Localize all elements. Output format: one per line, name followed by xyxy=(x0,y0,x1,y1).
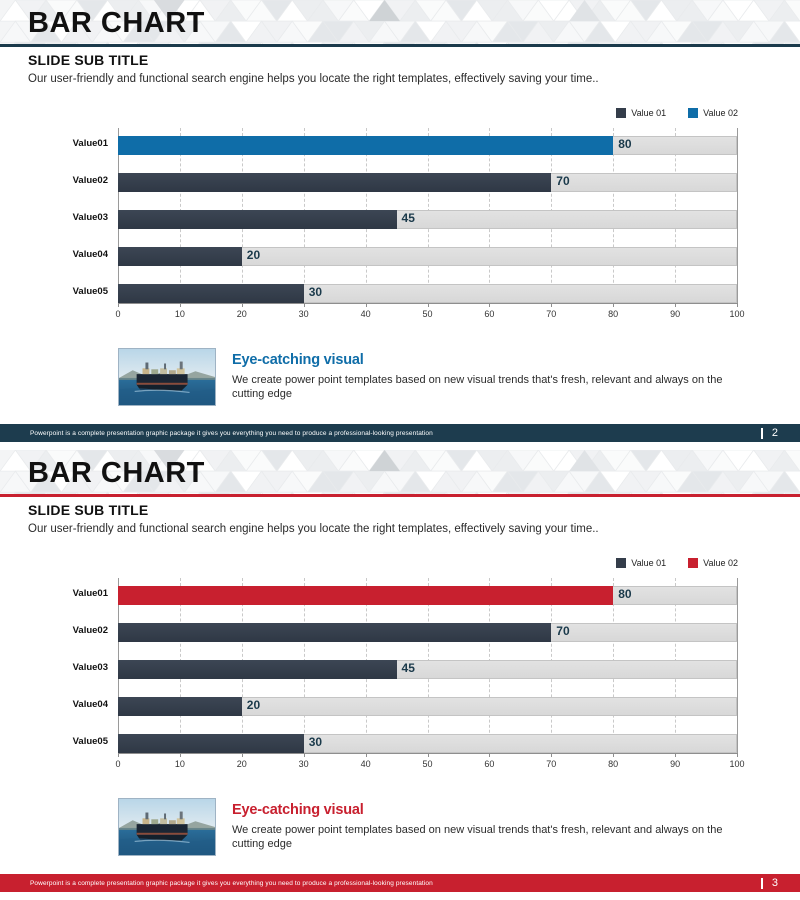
slide-2: BAR CHARTSLIDE SUB TITLEOur user-friendl… xyxy=(0,450,800,900)
legend-swatch-icon xyxy=(688,108,698,118)
axis-tick-label: 100 xyxy=(729,759,744,769)
gridline xyxy=(737,128,739,303)
slide-header: BAR CHART xyxy=(0,0,800,44)
axis-tick-label: 50 xyxy=(422,309,432,319)
bar-chart: 010203040506070809010080Value0170Value02… xyxy=(118,128,737,303)
axis-tick-label: 80 xyxy=(608,759,618,769)
bar-category-label: Value03 xyxy=(73,212,108,223)
bar-category-label: Value03 xyxy=(73,662,108,673)
chart-bar-row[interactable]: 45Value03 xyxy=(118,210,737,229)
bar-category-label: Value05 xyxy=(73,286,108,297)
bar-category-label: Value04 xyxy=(73,699,108,710)
chart-bar[interactable] xyxy=(118,697,242,716)
feature-block: Eye-catching visualWe create power point… xyxy=(118,798,738,860)
page-number: 3 xyxy=(772,877,778,889)
feature-description: We create power point templates based on… xyxy=(232,823,732,851)
slide-description: Our user-friendly and functional search … xyxy=(28,523,599,535)
slide-description: Our user-friendly and functional search … xyxy=(28,73,599,85)
chart-bar[interactable] xyxy=(118,247,242,266)
bar-value-label: 70 xyxy=(556,174,569,188)
chart-bar-row[interactable]: 80Value01 xyxy=(118,136,737,155)
feature-description: We create power point templates based on… xyxy=(232,373,732,401)
bar-value-label: 80 xyxy=(618,587,631,601)
chart-bar-row[interactable]: 80Value01 xyxy=(118,586,737,605)
axis-tick-label: 30 xyxy=(299,309,309,319)
chart-bar[interactable] xyxy=(118,586,613,605)
footer-page-number: 2 xyxy=(761,427,778,439)
legend-label: Value 02 xyxy=(703,108,738,118)
axis-tick-label: 50 xyxy=(422,759,432,769)
legend-swatch-icon xyxy=(688,558,698,568)
bar-category-label: Value01 xyxy=(73,588,108,599)
chart-bar-row[interactable]: 70Value02 xyxy=(118,173,737,192)
chart-bar-row[interactable]: 20Value04 xyxy=(118,247,737,266)
axis-tick-label: 20 xyxy=(237,309,247,319)
bar-value-label: 80 xyxy=(618,137,631,151)
x-axis-line xyxy=(118,303,737,304)
legend-item-2[interactable]: Value 02 xyxy=(688,558,738,568)
chart-bar-row[interactable]: 30Value05 xyxy=(118,734,737,753)
page-divider-icon xyxy=(761,428,763,439)
page-number: 2 xyxy=(772,427,778,439)
chart-bar[interactable] xyxy=(118,660,397,679)
chart-bar-row[interactable]: 45Value03 xyxy=(118,660,737,679)
bar-category-label: Value01 xyxy=(73,138,108,149)
slide-deck: BAR CHARTSLIDE SUB TITLEOur user-friendl… xyxy=(0,0,800,900)
axis-tick-label: 60 xyxy=(484,759,494,769)
bar-category-label: Value05 xyxy=(73,736,108,747)
bar-value-label: 20 xyxy=(247,698,260,712)
axis-tick-label: 30 xyxy=(299,759,309,769)
footer-text: Powerpoint is a complete presentation gr… xyxy=(30,430,433,437)
feature-title: Eye-catching visual xyxy=(232,802,364,818)
slide-subtitle: SLIDE SUB TITLE xyxy=(28,502,148,518)
chart-bar-row[interactable]: 70Value02 xyxy=(118,623,737,642)
header-accent-rule xyxy=(0,494,800,497)
chart-bar[interactable] xyxy=(118,173,551,192)
page-title: BAR CHART xyxy=(28,452,205,494)
axis-tick-label: 100 xyxy=(729,309,744,319)
footer-page-number: 3 xyxy=(761,877,778,889)
axis-tick-label: 10 xyxy=(175,309,185,319)
chart-bar-row[interactable]: 30Value05 xyxy=(118,284,737,303)
chart-bar[interactable] xyxy=(118,210,397,229)
axis-tick-label: 90 xyxy=(670,759,680,769)
axis-tick-label: 80 xyxy=(608,309,618,319)
axis-tick-label: 0 xyxy=(115,759,120,769)
bar-category-label: Value02 xyxy=(73,175,108,186)
gridline xyxy=(737,578,739,753)
bar-chart: 010203040506070809010080Value0170Value02… xyxy=(118,578,737,753)
slide-1: BAR CHARTSLIDE SUB TITLEOur user-friendl… xyxy=(0,0,800,450)
header-accent-rule xyxy=(0,44,800,47)
axis-tick-label: 70 xyxy=(546,759,556,769)
slide-footer: Powerpoint is a complete presentation gr… xyxy=(0,424,800,442)
feature-title: Eye-catching visual xyxy=(232,352,364,368)
axis-tick-label: 40 xyxy=(361,759,371,769)
chart-legend: Value 01Value 02 xyxy=(616,108,738,118)
cargo-ship-photo xyxy=(118,348,216,406)
footer-text: Powerpoint is a complete presentation gr… xyxy=(30,880,433,887)
chart-bar[interactable] xyxy=(118,284,304,303)
bar-value-label: 20 xyxy=(247,248,260,262)
bar-value-label: 30 xyxy=(309,735,322,749)
chart-bar[interactable] xyxy=(118,623,551,642)
bar-value-label: 30 xyxy=(309,285,322,299)
chart-legend: Value 01Value 02 xyxy=(616,558,738,568)
chart-bar[interactable] xyxy=(118,734,304,753)
chart-bar[interactable] xyxy=(118,136,613,155)
legend-swatch-icon xyxy=(616,558,626,568)
bar-category-label: Value04 xyxy=(73,249,108,260)
slide-footer: Powerpoint is a complete presentation gr… xyxy=(0,874,800,892)
axis-tick xyxy=(737,303,738,307)
feature-block: Eye-catching visualWe create power point… xyxy=(118,348,738,410)
legend-item-1[interactable]: Value 01 xyxy=(616,558,666,568)
axis-tick xyxy=(737,753,738,757)
legend-label: Value 02 xyxy=(703,558,738,568)
legend-item-1[interactable]: Value 01 xyxy=(616,108,666,118)
bar-value-label: 70 xyxy=(556,624,569,638)
legend-item-2[interactable]: Value 02 xyxy=(688,108,738,118)
page-title: BAR CHART xyxy=(28,2,205,44)
axis-tick-label: 20 xyxy=(237,759,247,769)
axis-tick-label: 60 xyxy=(484,309,494,319)
chart-bar-row[interactable]: 20Value04 xyxy=(118,697,737,716)
axis-tick-label: 40 xyxy=(361,309,371,319)
legend-label: Value 01 xyxy=(631,108,666,118)
axis-tick-label: 0 xyxy=(115,309,120,319)
slide-header: BAR CHART xyxy=(0,450,800,494)
x-axis-line xyxy=(118,753,737,754)
bar-value-label: 45 xyxy=(402,211,415,225)
axis-tick-label: 90 xyxy=(670,309,680,319)
legend-swatch-icon xyxy=(616,108,626,118)
slide-subtitle: SLIDE SUB TITLE xyxy=(28,52,148,68)
legend-label: Value 01 xyxy=(631,558,666,568)
page-divider-icon xyxy=(761,878,763,889)
bar-category-label: Value02 xyxy=(73,625,108,636)
axis-tick-label: 70 xyxy=(546,309,556,319)
cargo-ship-photo xyxy=(118,798,216,856)
axis-tick-label: 10 xyxy=(175,759,185,769)
bar-value-label: 45 xyxy=(402,661,415,675)
